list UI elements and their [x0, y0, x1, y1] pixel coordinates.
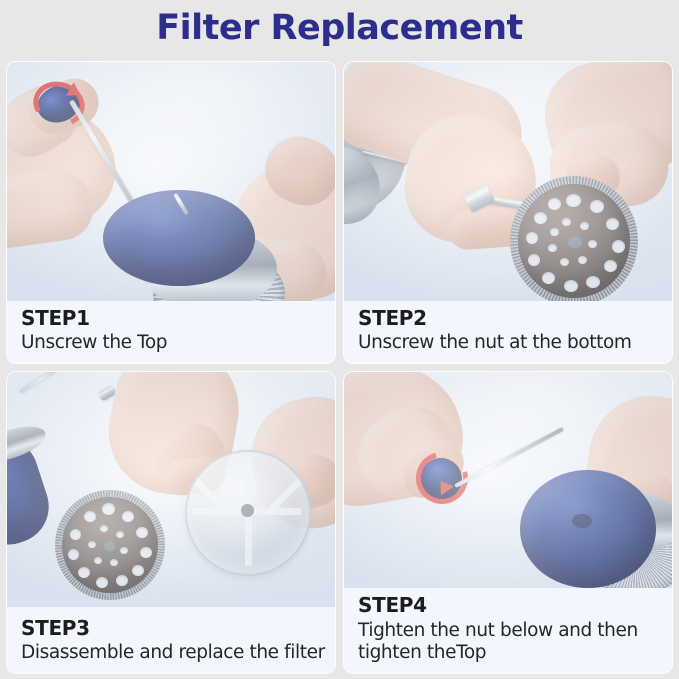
infographic-page: Filter Replacement [0, 0, 679, 679]
step-label-4: STEP4 [358, 594, 672, 618]
step-description-3: Disassemble and replace the filter [21, 642, 335, 665]
step-description-1: Unscrew the Top [21, 332, 335, 355]
step-card-1[interactable]: STEP1 Unscrew the Top [7, 62, 335, 363]
step-description-4: Tighten the nut below and then tighten t… [358, 620, 672, 665]
step-photo-4 [344, 372, 672, 607]
step-card-4[interactable]: STEP4 Tighten the nut below and then tig… [344, 372, 672, 673]
step-caption-1: STEP1 Unscrew the Top [7, 301, 335, 363]
step-label-1: STEP1 [21, 307, 335, 331]
step-caption-2: STEP2 Unscrew the nut at the bottom [344, 301, 672, 363]
step-description-2: Unscrew the nut at the bottom [358, 332, 672, 355]
step-caption-4: STEP4 Tighten the nut below and then tig… [344, 588, 672, 673]
step-photo-2 [344, 62, 672, 302]
step-card-2[interactable]: STEP2 Unscrew the nut at the bottom [344, 62, 672, 363]
steps-grid: STEP1 Unscrew the Top [7, 62, 672, 673]
step-label-3: STEP3 [21, 617, 335, 641]
step-card-3[interactable]: STEP3 Disassemble and replace the filter [7, 372, 335, 673]
step-photo-1 [7, 62, 335, 302]
step-label-2: STEP2 [358, 307, 672, 331]
page-title: Filter Replacement [0, 8, 679, 48]
step-photo-3 [7, 372, 335, 607]
step-caption-3: STEP3 Disassemble and replace the filter [7, 611, 335, 673]
